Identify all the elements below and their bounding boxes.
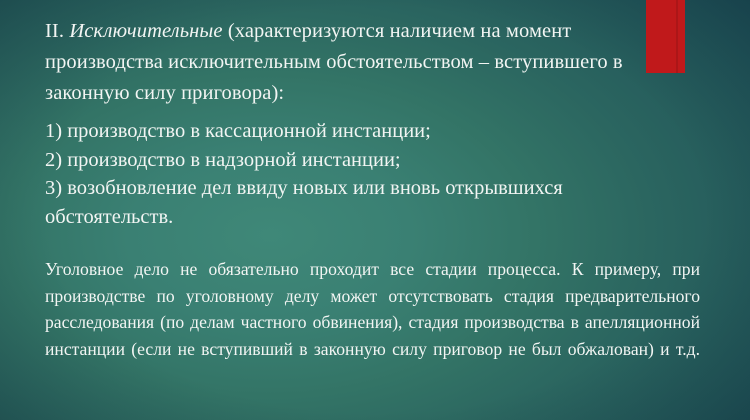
numbered-list: 1) производство в кассационной инстанции… <box>45 117 665 231</box>
heading-numeral: II. <box>45 20 64 42</box>
body-paragraph: Уголовное дело не обязательно проходит в… <box>45 256 700 389</box>
list-item: 1) производство в кассационной инстанции… <box>45 117 665 146</box>
slide-heading: II. Исключительные (характеризуются нали… <box>45 16 693 109</box>
list-item: 2) производство в надзорной инстанции; <box>45 146 665 175</box>
list-item: 3) возобновление дел ввиду новых или вно… <box>45 174 665 231</box>
slide-content: II. Исключительные (характеризуются нали… <box>45 0 705 420</box>
heading-term: Исключительные <box>69 20 222 42</box>
presentation-slide: II. Исключительные (характеризуются нали… <box>0 0 750 420</box>
